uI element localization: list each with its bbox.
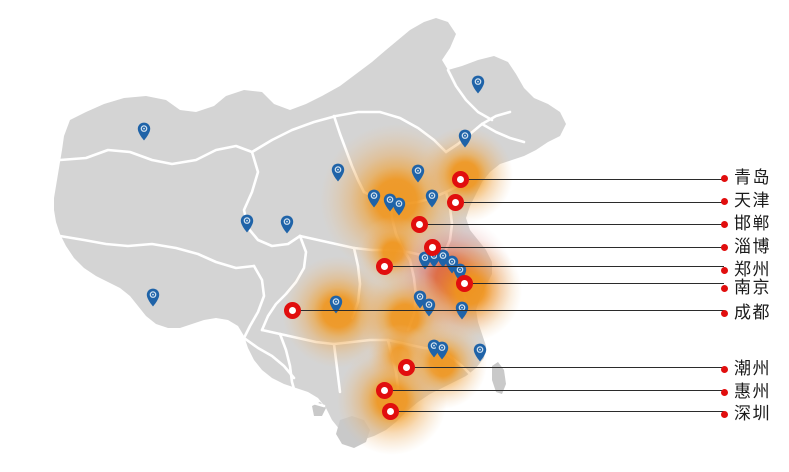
city-label-handan[interactable]: 邯郸	[734, 216, 771, 233]
label-dot-chaozhou	[721, 366, 728, 373]
label-dot-huizhou	[721, 389, 728, 396]
city-label-nanjing[interactable]: 南京	[734, 280, 771, 297]
city-label-shenzhen[interactable]: 深圳	[734, 406, 771, 423]
label-dot-handan	[721, 221, 728, 228]
city-label-zhengzhou[interactable]: 郑州	[734, 262, 771, 279]
map-visualization: 青岛天津邯郸淄博郑州南京成都潮州惠州深圳	[0, 0, 789, 472]
city-label-chengdu[interactable]: 成都	[734, 305, 771, 322]
label-dot-shenzhen	[721, 411, 728, 418]
city-label-qingdao[interactable]: 青岛	[734, 170, 771, 187]
city-label-chaozhou[interactable]: 潮州	[734, 361, 771, 378]
city-labels-layer: 青岛天津邯郸淄博郑州南京成都潮州惠州深圳	[0, 0, 789, 472]
label-dot-tianjin	[721, 198, 728, 205]
city-label-tianjin[interactable]: 天津	[734, 193, 771, 210]
label-dot-zibo	[721, 244, 728, 251]
label-dot-qingdao	[721, 175, 728, 182]
city-label-huizhou[interactable]: 惠州	[734, 384, 771, 401]
label-dot-nanjing	[721, 285, 728, 292]
city-label-zibo[interactable]: 淄博	[734, 239, 771, 256]
label-dot-zhengzhou	[721, 267, 728, 274]
label-dot-chengdu	[721, 310, 728, 317]
